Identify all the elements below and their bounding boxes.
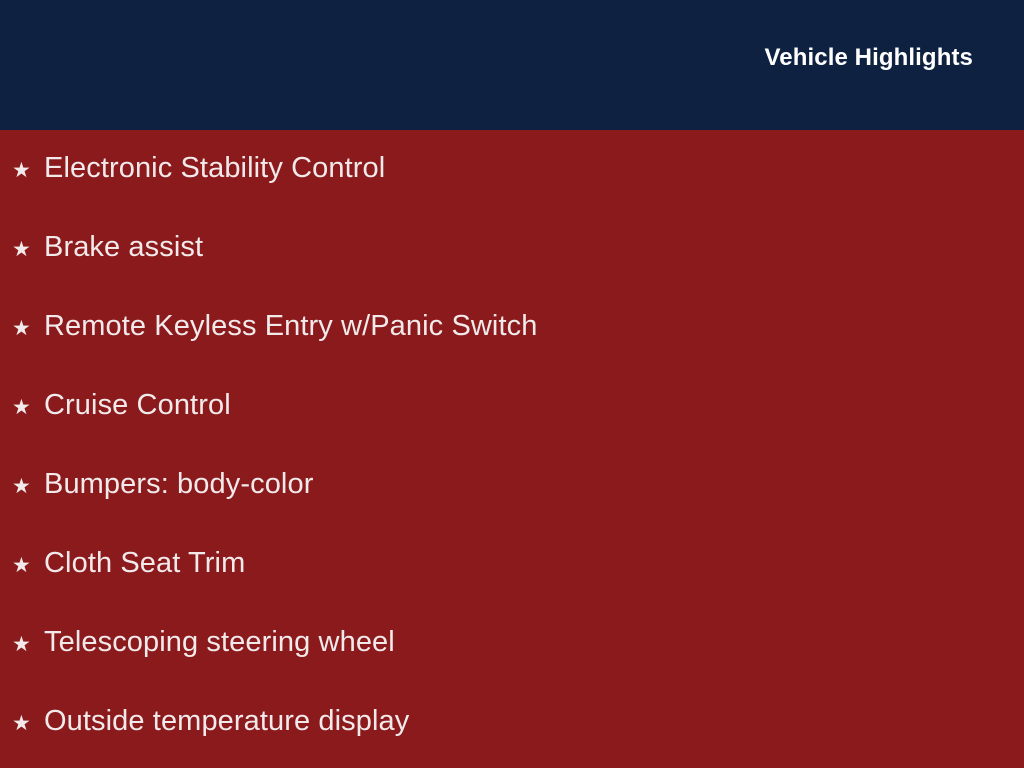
list-item: ★Electronic Stability Control (0, 154, 1024, 233)
star-bullet-icon: ★ (12, 397, 44, 418)
list-item: ★Bumpers: body-color (0, 470, 1024, 549)
star-bullet-icon: ★ (12, 160, 44, 181)
list-item-label: Electronic Stability Control (44, 154, 385, 183)
star-bullet-icon: ★ (12, 318, 44, 339)
slide-header: Vehicle Highlights (0, 0, 1024, 130)
vehicle-highlights-list: ★Electronic Stability Control★Brake assi… (0, 130, 1024, 768)
star-bullet-icon: ★ (12, 476, 44, 497)
vehicle-highlights-slide: Vehicle Highlights ★Electronic Stability… (0, 0, 1024, 768)
list-item: ★Telescoping steering wheel (0, 628, 1024, 707)
list-item: ★Brake assist (0, 233, 1024, 312)
list-item: ★Cruise Control (0, 391, 1024, 470)
star-bullet-icon: ★ (12, 239, 44, 260)
list-item-label: Outside temperature display (44, 707, 409, 736)
list-item-label: Telescoping steering wheel (44, 628, 395, 657)
star-bullet-icon: ★ (12, 555, 44, 576)
list-item-label: Brake assist (44, 233, 203, 262)
list-item-label: Cloth Seat Trim (44, 549, 245, 578)
list-item-label: Bumpers: body-color (44, 470, 313, 499)
list-item: ★Remote Keyless Entry w/Panic Switch (0, 312, 1024, 391)
star-bullet-icon: ★ (12, 713, 44, 734)
list-item: ★Outside temperature display (0, 707, 1024, 768)
star-bullet-icon: ★ (12, 634, 44, 655)
page-title: Vehicle Highlights (764, 46, 973, 70)
list-item: ★Cloth Seat Trim (0, 549, 1024, 628)
list-item-label: Remote Keyless Entry w/Panic Switch (44, 312, 537, 341)
list-item-label: Cruise Control (44, 391, 231, 420)
